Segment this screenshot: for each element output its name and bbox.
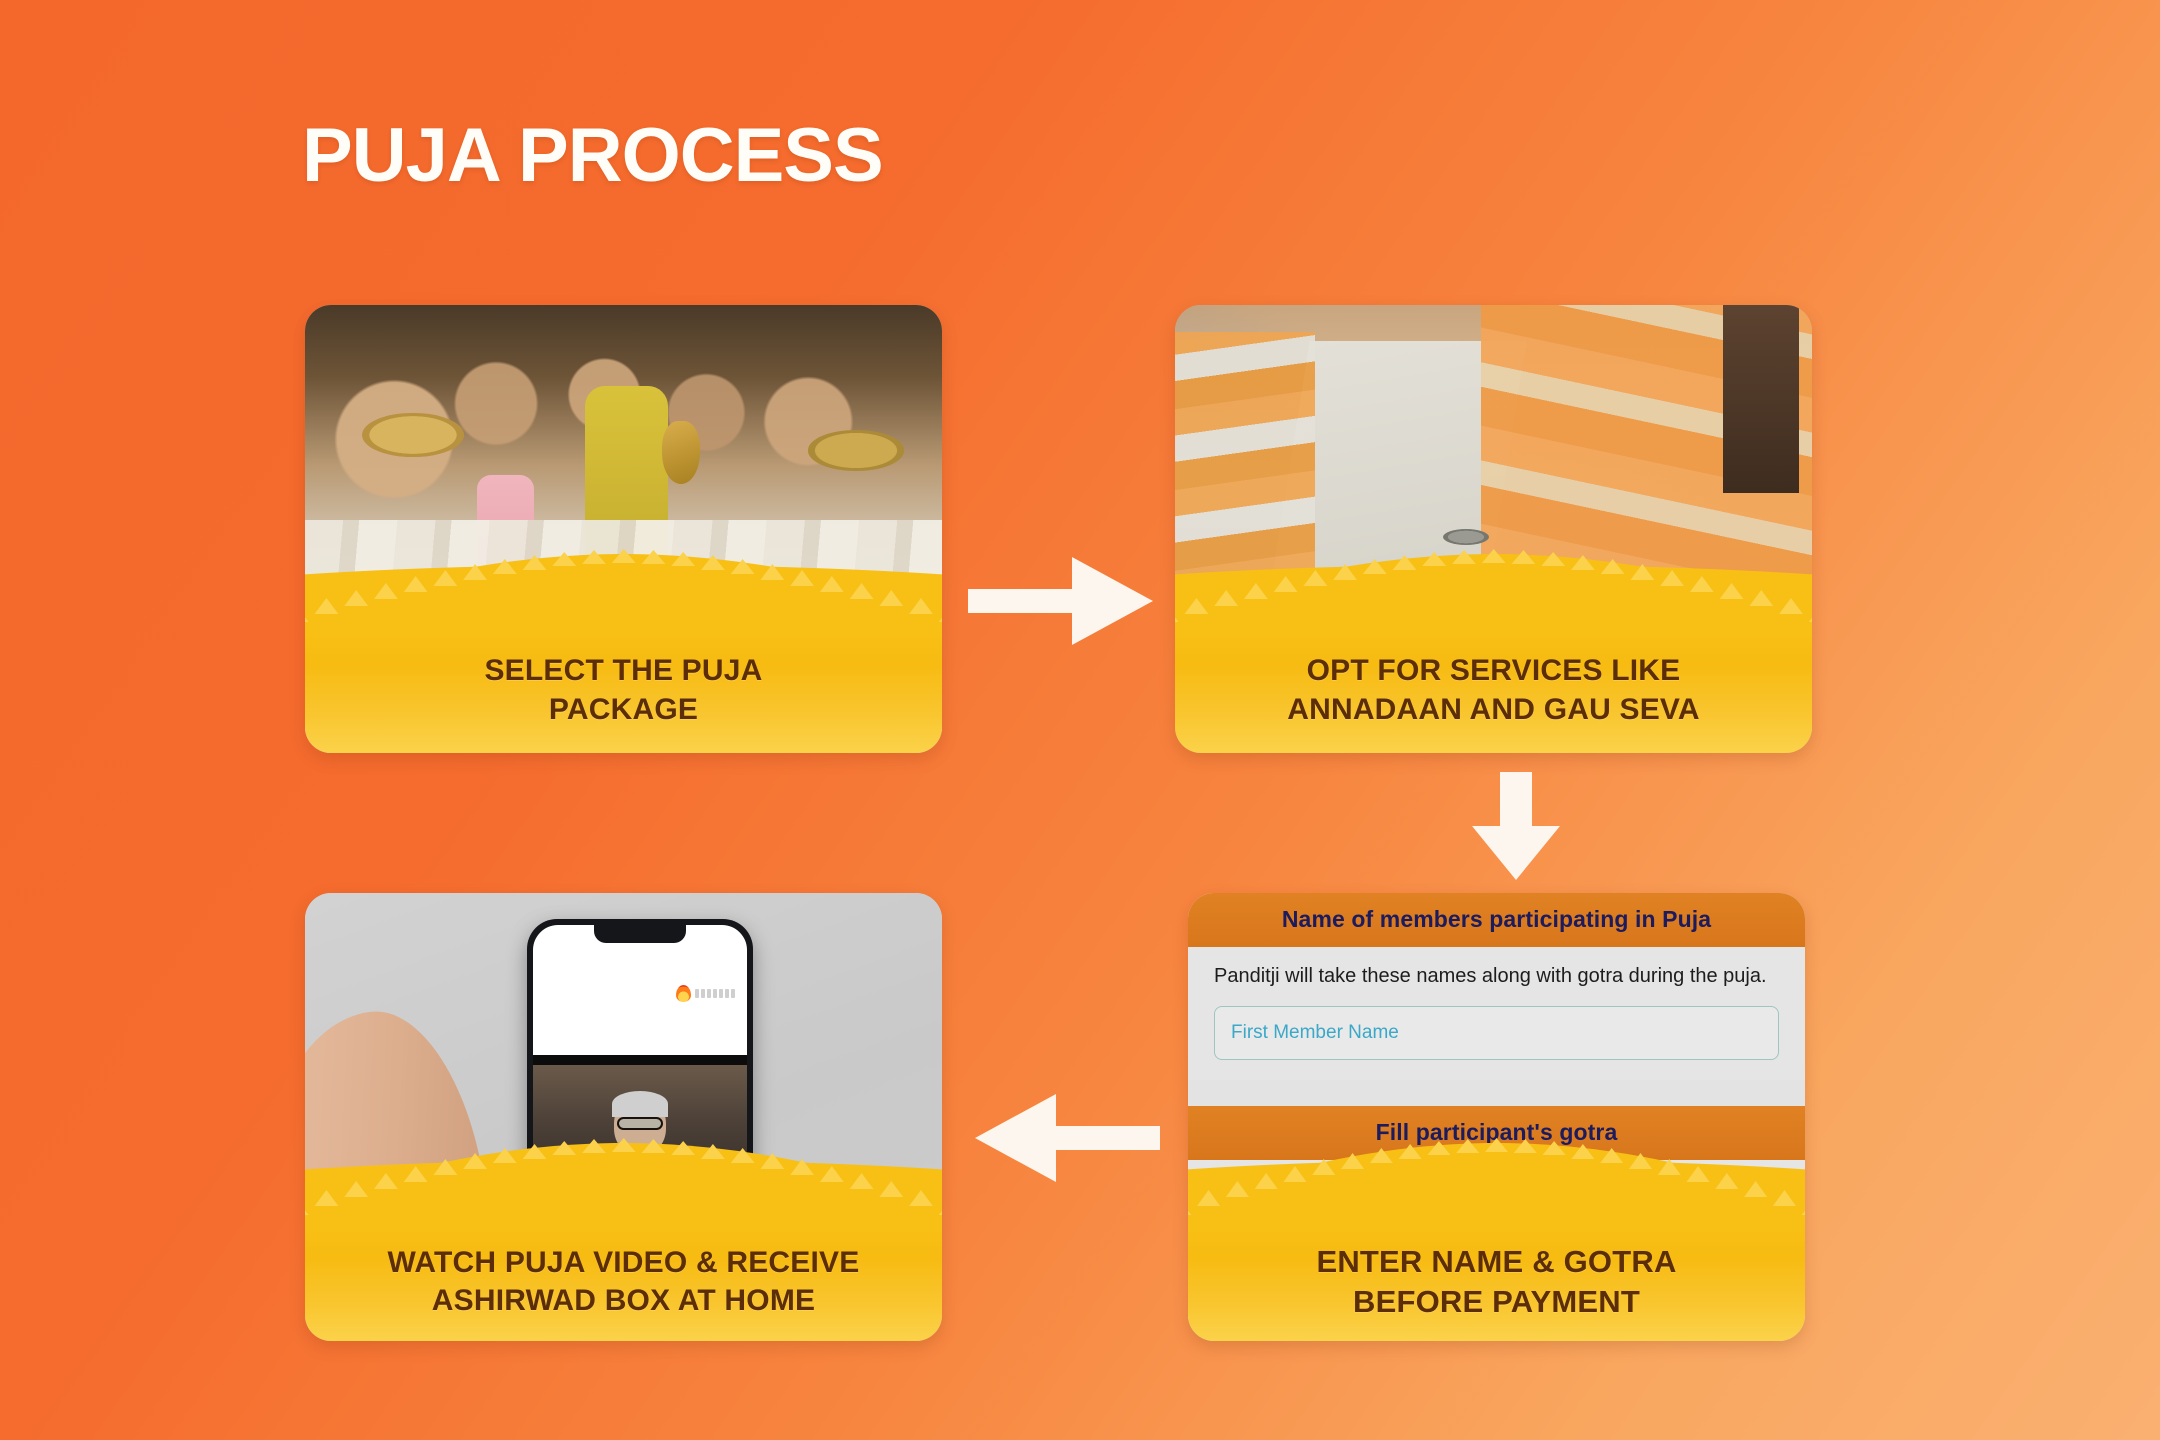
step-4-caption-line1: WATCH PUJA VIDEO & RECEIVE (388, 1246, 860, 1279)
fullscreen-icon[interactable] (697, 1181, 710, 1193)
members-note: Panditji will take these names along wit… (1214, 965, 1779, 988)
brand-wordmark (695, 989, 735, 998)
puja-thali-secondary-icon (808, 430, 904, 470)
step-card-4[interactable]: 0:22 / 1:00 (305, 893, 942, 1341)
step-4-banner: WATCH PUJA VIDEO & RECEIVE ASHIRWAD BOX … (305, 1223, 942, 1341)
step-3-caption-line1: ENTER NAME & GOTRA (1316, 1244, 1676, 1279)
step-3-banner: ENTER NAME & GOTRA BEFORE PAYMENT (1188, 1223, 1805, 1341)
puja-thali-icon (362, 413, 464, 458)
step-1-caption-line1: SELECT THE PUJA (484, 654, 762, 687)
phone-mockup: 0:22 / 1:00 (527, 919, 753, 1211)
kalash-icon (662, 421, 700, 484)
annadaan-plate (1443, 529, 1489, 545)
puja-video-player[interactable]: 0:22 / 1:00 (533, 1055, 747, 1205)
annadaan-pillar (1723, 305, 1799, 493)
video-controls-bar[interactable]: 0:22 / 1:00 (533, 1180, 747, 1193)
arrow-down-icon (1470, 772, 1562, 880)
annadaan-plate (1474, 592, 1520, 608)
panditji-hair (612, 1091, 668, 1117)
volume-icon[interactable] (661, 1181, 675, 1193)
step-card-2[interactable]: OPT FOR SERVICES LIKE ANNADAAN AND GAU S… (1175, 305, 1812, 753)
step-2-caption-line2: ANNADAAN AND GAU SEVA (1287, 693, 1700, 726)
gotra-note: Gotra will be recited during the puja (1214, 1178, 1779, 1201)
step-4-caption-line2: ASHIRWAD BOX AT HOME (432, 1284, 815, 1317)
step-2-caption-line1: OPT FOR SERVICES LIKE (1307, 654, 1681, 687)
app-brand-logo (676, 985, 735, 1002)
members-section-header: Name of members participating in Puja (1188, 893, 1805, 947)
arrow-left-icon (975, 1092, 1160, 1184)
arrow-right-icon (968, 555, 1153, 647)
more-options-icon[interactable] (732, 1180, 735, 1193)
gotra-section-header: Fill participant's gotra (1188, 1106, 1805, 1160)
step-1-banner: SELECT THE PUJA PACKAGE (305, 628, 942, 753)
annadaan-plate (1232, 583, 1278, 599)
panditji-glasses-icon (617, 1117, 663, 1130)
video-timestamp: 0:22 / 1:00 (563, 1181, 621, 1193)
page-title: PUJA PROCESS (302, 118, 883, 194)
phone-screen: 0:22 / 1:00 (533, 925, 747, 1205)
first-member-name-input[interactable]: First Member Name (1214, 1006, 1779, 1060)
members-section-body: Panditji will take these names along wit… (1188, 947, 1805, 1080)
step-1-caption-line2: PACKAGE (549, 693, 698, 726)
step-3-caption-line2: BEFORE PAYMENT (1353, 1284, 1640, 1319)
step-card-1[interactable]: SELECT THE PUJA PACKAGE (305, 305, 942, 753)
flame-icon (676, 985, 691, 1002)
video-progress-bar[interactable] (545, 1197, 735, 1200)
phone-notch (594, 925, 686, 943)
play-icon[interactable] (545, 1181, 554, 1193)
step-2-banner: OPT FOR SERVICES LIKE ANNADAAN AND GAU S… (1175, 628, 1812, 753)
step-card-3[interactable]: Name of members participating in Puja Pa… (1188, 893, 1805, 1341)
